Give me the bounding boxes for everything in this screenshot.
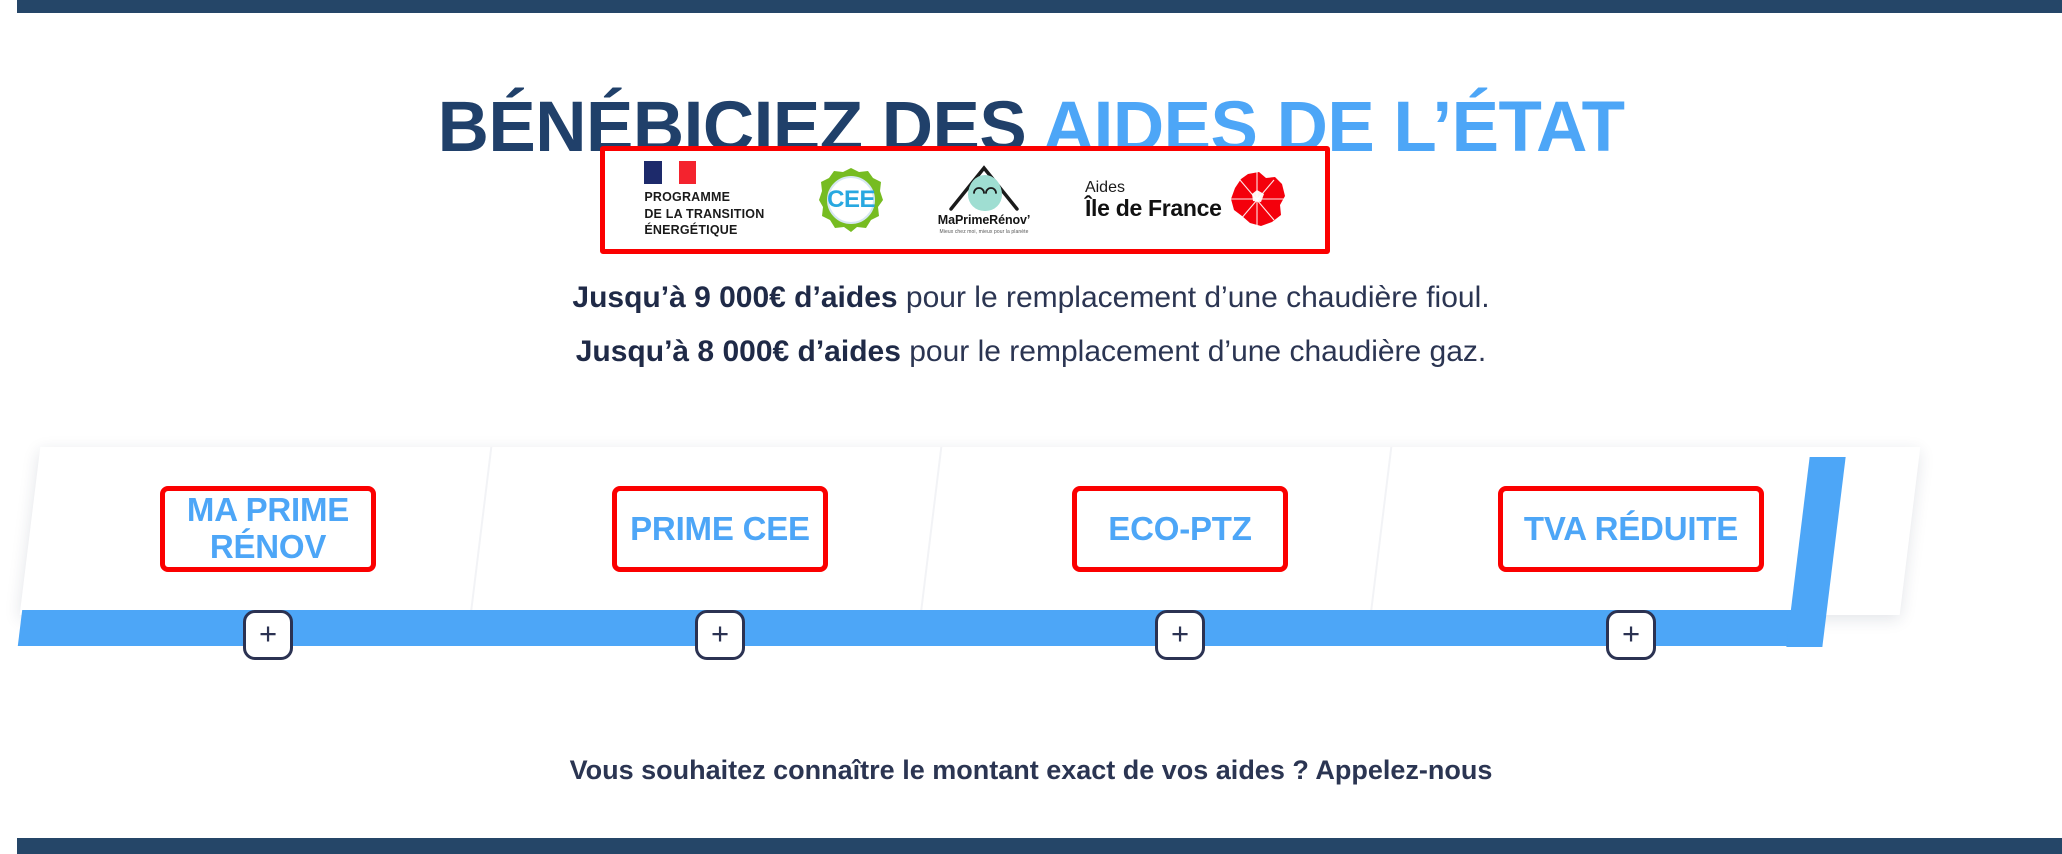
aid-amount-lines: Jusqu’à 9 000€ d’aides pour le remplacem… xyxy=(0,283,2062,391)
aid-amount-strong-2: Jusqu’à 8 000€ d’aides xyxy=(576,335,901,368)
panel-divider xyxy=(920,447,943,615)
aids-banner: MA PRIME RÉNOV + PRIME CEE + ECO-PTZ + T… xyxy=(0,440,2062,670)
aid-button-label: MA PRIME RÉNOV xyxy=(165,492,371,566)
plus-icon: + xyxy=(711,618,729,649)
logo-programme-transition-energetique: PROGRAMME DE LA TRANSITION ÉNERGÉTIQUE xyxy=(644,151,764,249)
aid-amount-line: Jusqu’à 8 000€ d’aides pour le remplacem… xyxy=(0,337,2062,367)
cee-label: CEE xyxy=(819,186,883,214)
ile-de-france-map-icon xyxy=(1228,172,1286,228)
expand-button-ma-prime-renov[interactable]: + xyxy=(243,610,293,660)
french-flag-icon xyxy=(644,161,696,184)
idf-aides-label: Aides xyxy=(1085,179,1125,197)
aid-amount-strong-1: Jusqu’à 9 000€ d’aides xyxy=(572,281,897,314)
aid-amount-rest-2: pour le remplacement d’une chaudière gaz… xyxy=(901,335,1486,368)
house-roof-icon xyxy=(945,165,1023,211)
idf-region-label: Île de France xyxy=(1085,196,1222,221)
maprimerenov-tagline: Mieux chez moi, mieux pour la planète xyxy=(940,229,1029,235)
aid-button-eco-ptz[interactable]: ECO-PTZ xyxy=(1072,486,1288,572)
expand-button-prime-cee[interactable]: + xyxy=(695,610,745,660)
aid-button-ma-prime-renov[interactable]: MA PRIME RÉNOV xyxy=(160,486,376,572)
aid-button-tva-reduite[interactable]: TVA RÉDUITE xyxy=(1498,486,1764,572)
plus-icon: + xyxy=(259,618,277,649)
certification-logo-strip: PROGRAMME DE LA TRANSITION ÉNERGÉTIQUE C… xyxy=(600,146,1330,254)
aid-button-label: ECO-PTZ xyxy=(1108,511,1251,548)
expand-button-tva-reduite[interactable]: + xyxy=(1606,610,1656,660)
logo-aides-ile-de-france: Aides Île de France xyxy=(1085,151,1286,249)
logo-maprimerenov: MaPrimeRénov’ Mieux chez moi, mieux pour… xyxy=(938,151,1030,249)
logo-cee: CEE xyxy=(819,151,883,249)
aid-amount-line: Jusqu’à 9 000€ d’aides pour le remplacem… xyxy=(0,283,2062,313)
plus-icon: + xyxy=(1622,618,1640,649)
aid-button-prime-cee[interactable]: PRIME CEE xyxy=(612,486,828,572)
aid-amount-rest-1: pour le remplacement d’une chaudière fio… xyxy=(898,281,1490,314)
expand-button-eco-ptz[interactable]: + xyxy=(1155,610,1205,660)
cee-badge-icon: CEE xyxy=(819,167,883,233)
panel-divider xyxy=(470,447,493,615)
aid-button-label: PRIME CEE xyxy=(630,511,810,548)
plus-icon: + xyxy=(1171,618,1189,649)
panel-divider xyxy=(1370,447,1393,615)
bottom-divider-bar xyxy=(17,838,2062,854)
top-divider-bar xyxy=(17,0,2062,13)
aid-button-label: TVA RÉDUITE xyxy=(1524,511,1738,548)
smiley-eyes-icon xyxy=(973,185,997,194)
logo-pte-text: PROGRAMME DE LA TRANSITION ÉNERGÉTIQUE xyxy=(644,189,764,239)
maprimerenov-label: MaPrimeRénov’ xyxy=(938,213,1030,227)
contact-callout: Vous souhaitez connaître le montant exac… xyxy=(0,755,2062,786)
